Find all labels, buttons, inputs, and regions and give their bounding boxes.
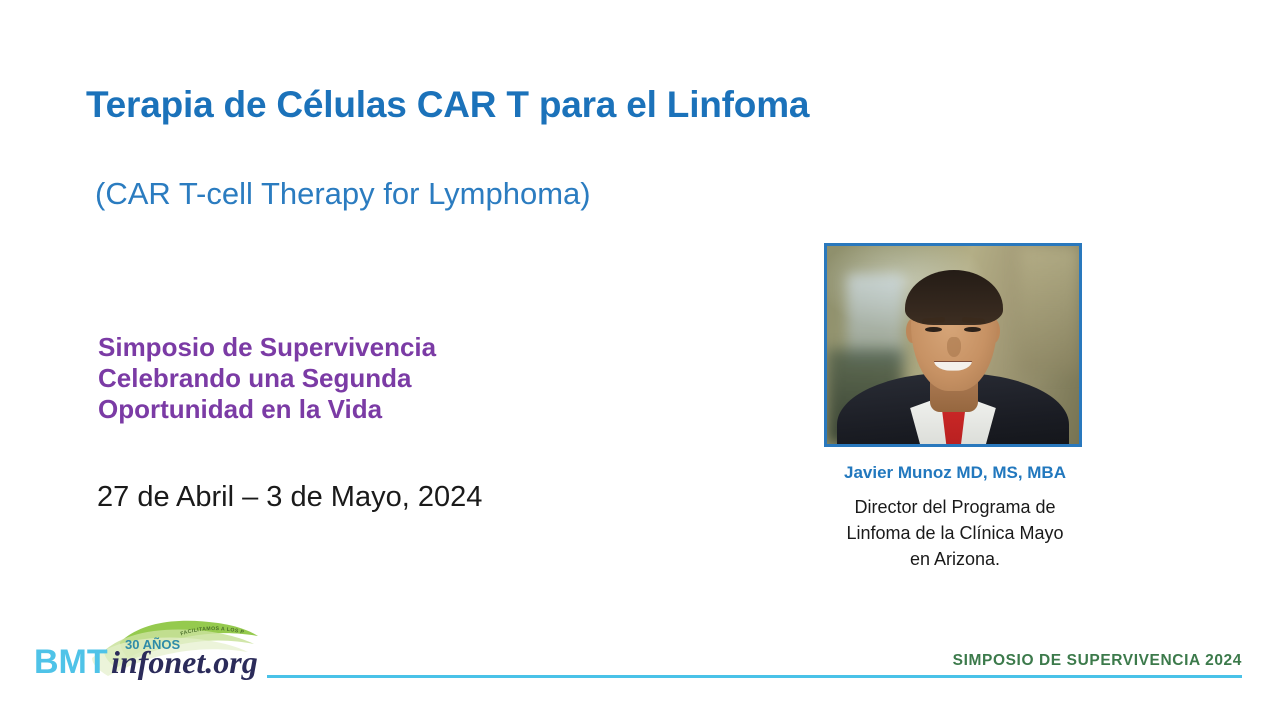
portrait-nose: [947, 337, 961, 357]
logo-infonet-text: infonet.org: [111, 644, 258, 680]
speaker-name: Javier Munoz MD, MS, MBA: [760, 463, 1150, 483]
photo-background-right: [1019, 246, 1079, 373]
event-name: Simposio de Supervivencia Celebrando una…: [98, 332, 436, 425]
slide-title-spanish: Terapia de Células CAR T para el Linfoma: [86, 84, 809, 126]
speaker-role: Director del Programa de Linfoma de la C…: [760, 494, 1150, 572]
event-dates: 27 de Abril – 3 de Mayo, 2024: [97, 481, 482, 514]
footer-symposium-label: SIMPOSIO DE SUPERVIVENCIA 2024: [953, 652, 1242, 670]
logo-bmt-text: BMT: [34, 643, 108, 680]
footer-divider: [267, 675, 1242, 678]
bmtinfonet-logo[interactable]: FACILITAMOS A LOS PACIENTES 30 AÑOS BMT …: [32, 618, 267, 680]
portrait-hair: [905, 270, 1003, 325]
slide-title-english: (CAR T-cell Therapy for Lymphoma): [95, 176, 591, 212]
speaker-photo: [824, 243, 1082, 447]
speaker-portrait-image: [827, 246, 1079, 444]
presentation-slide: Terapia de Células CAR T para el Linfoma…: [0, 0, 1280, 720]
